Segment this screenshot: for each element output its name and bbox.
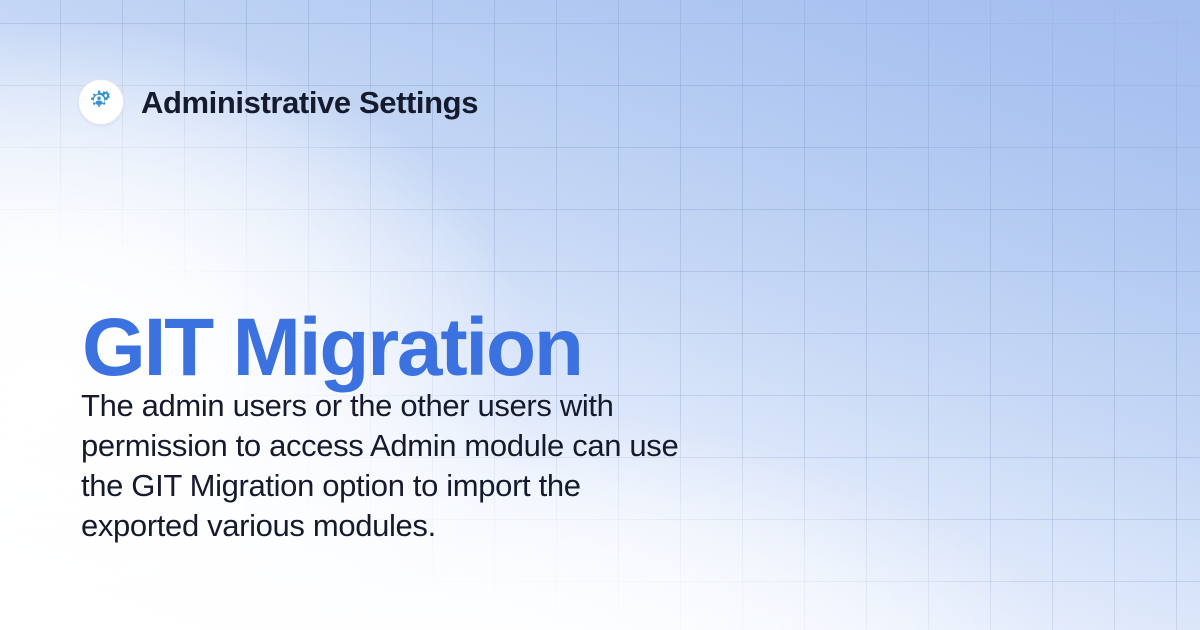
- description-line-3: the GIT Migration option to import the: [81, 466, 881, 506]
- admin-gear-user-icon: [78, 79, 124, 125]
- promo-banner: Administrative Settings GIT Migration Th…: [0, 0, 1200, 630]
- page-title: GIT Migration: [82, 308, 582, 388]
- eyebrow-row: Administrative Settings: [78, 78, 478, 126]
- description-line-1: The admin users or the other users with: [81, 386, 881, 426]
- eyebrow-label: Administrative Settings: [141, 87, 478, 118]
- description-line-4: exported various modules.: [81, 506, 881, 546]
- banner-content: Administrative Settings GIT Migration Th…: [0, 0, 1200, 630]
- description-line-2: permission to access Admin module can us…: [81, 426, 881, 466]
- description-paragraph: The admin users or the other users with …: [81, 386, 881, 546]
